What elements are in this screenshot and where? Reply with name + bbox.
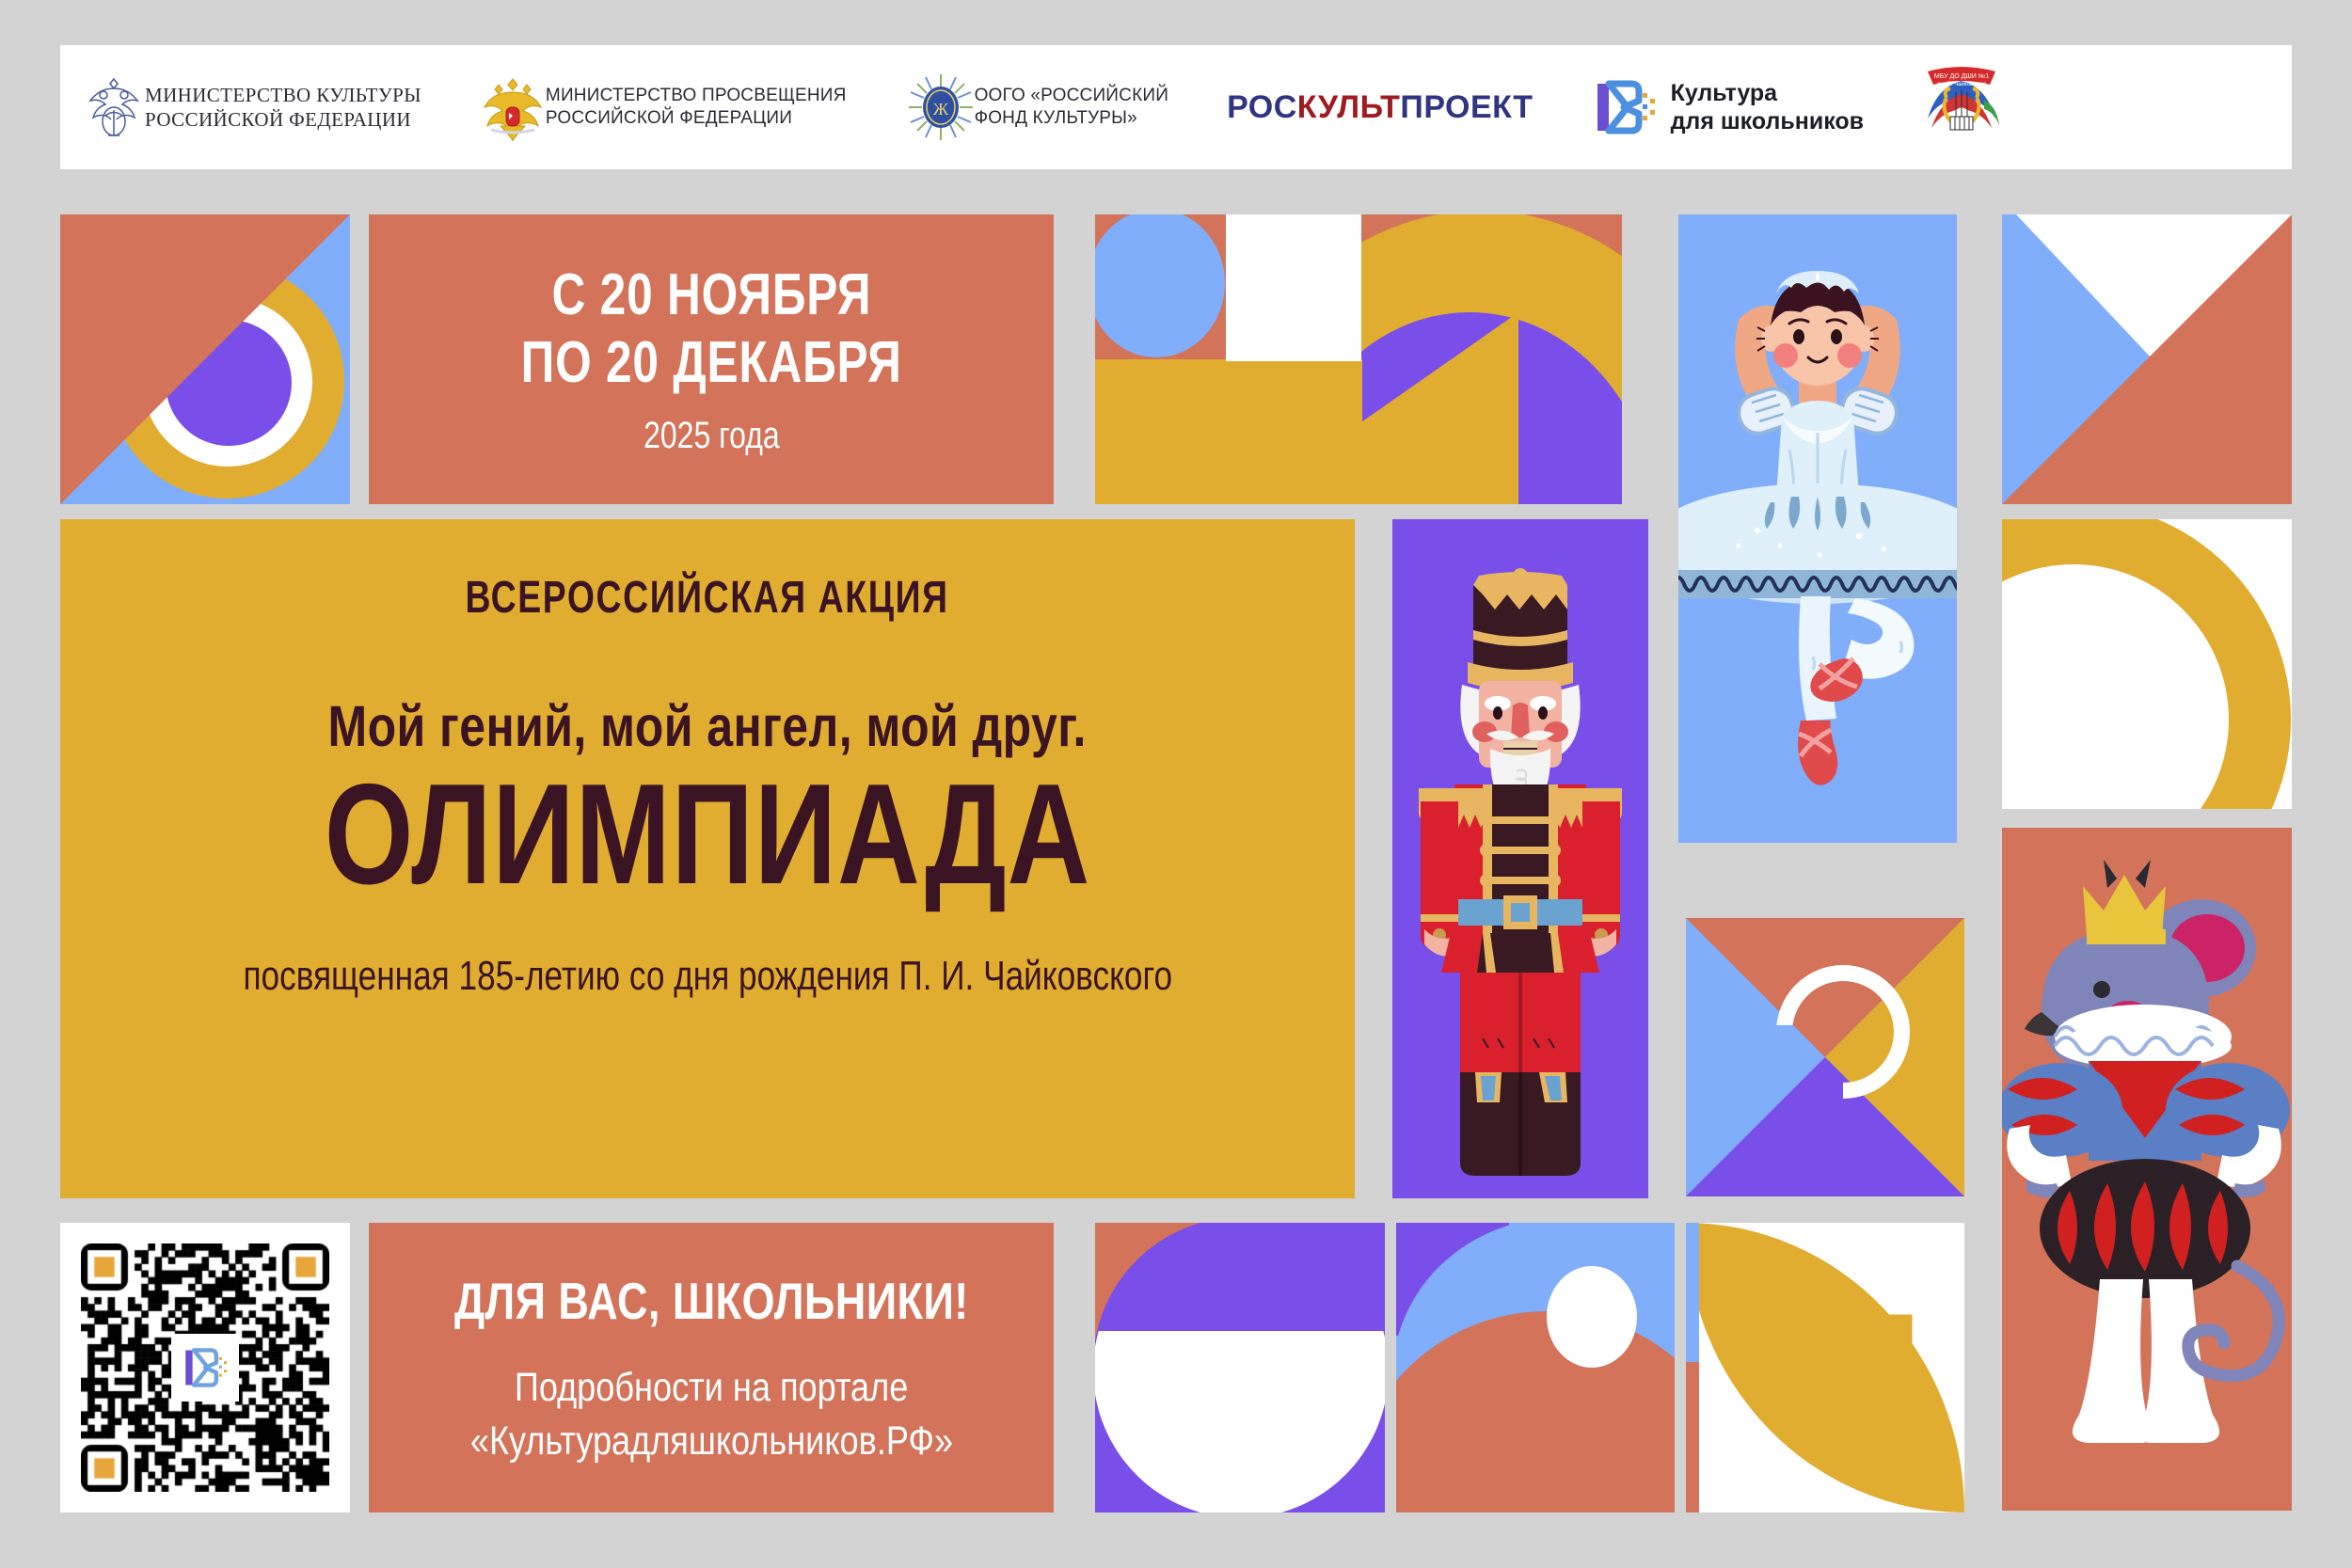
date-text-group: С 20 НОЯБРЯ ПО 20 ДЕКАБРЯ 2025 года bbox=[369, 214, 1054, 504]
decor-white-circle bbox=[1547, 1266, 1637, 1368]
dedication-text: посвященная 185-летию со дня рождения П.… bbox=[243, 953, 1172, 1000]
double-headed-eagle-lyre-emblem-icon bbox=[83, 72, 145, 142]
decor-blue-circle bbox=[1095, 214, 1225, 357]
kds-bracket-logo-icon bbox=[1590, 78, 1671, 136]
svg-text:Ж: Ж bbox=[932, 100, 948, 119]
svg-text:им. П. Чайковского: им. П. Чайковского bbox=[1937, 81, 1987, 87]
svg-text:МБУ ДО ДШИ №1: МБУ ДО ДШИ №1 bbox=[1934, 73, 1989, 80]
cta-tile: ДЛЯ ВАС, ШКОЛЬНИКИ! Подробности на порта… bbox=[369, 1223, 1054, 1513]
mouse-king-illustration bbox=[2002, 828, 2292, 1511]
decor-white-halfcircle bbox=[1095, 1331, 1385, 1513]
logo-minkult-text: МИНИСТЕРСТВО КУЛЬТУРЫ РОССИЙСКОЙ ФЕДЕРАЦ… bbox=[145, 83, 421, 133]
qr-tile[interactable] bbox=[60, 1223, 350, 1513]
ballerina-illustration bbox=[1678, 214, 1957, 843]
decor-tile-geo2 bbox=[1095, 1223, 1385, 1513]
decor-tile-geo1 bbox=[1095, 214, 1622, 504]
logo-kultura-dlya-shkolnikov: Культура для школьников bbox=[1590, 45, 1865, 169]
qr-code[interactable] bbox=[81, 1243, 329, 1492]
logo-dshi-tchaikovsky: МБУ ДО ДШИ №1 им. П. Чайковского bbox=[1918, 45, 2005, 169]
roskultproekt-wordmark: РОСКУЛЬТПРОЕКТ bbox=[1227, 89, 1534, 126]
decor-gold-leaf bbox=[1686, 1223, 1964, 1513]
logo-rfk: Ж ООГО «РОССИЙСКИЙ ФОНД КУЛЬТУРЫ» bbox=[907, 45, 1169, 169]
date-line-2: ПО 20 ДЕКАБРЯ bbox=[520, 329, 901, 396]
ballerina-tile bbox=[1678, 214, 1957, 843]
poster-root: МИНИСТЕРСТВО КУЛЬТУРЫ РОССИЙСКОЙ ФЕДЕРАЦ… bbox=[0, 0, 2352, 1568]
cta-text-group: ДЛЯ ВАС, ШКОЛЬНИКИ! Подробности на порта… bbox=[369, 1223, 1054, 1513]
cta-portal-link[interactable]: «Культурадляшкольников.РФ» bbox=[469, 1418, 952, 1465]
double-headed-eagle-emblem-icon bbox=[480, 73, 546, 141]
star-medallion-emblem-icon: Ж bbox=[907, 72, 975, 142]
decor-blue-strip bbox=[1686, 1223, 1699, 1362]
lyre-piano-ribbon-emblem-icon: МБУ ДО ДШИ №1 им. П. Чайковского bbox=[1918, 62, 2005, 152]
logo-minkult: МИНИСТЕРСТВО КУЛЬТУРЫ РОССИЙСКОЙ ФЕДЕРАЦ… bbox=[83, 45, 421, 169]
main-text-group: ВСЕРОССИЙСКАЯ АКЦИЯ Мой гений, мой ангел… bbox=[60, 519, 1355, 1198]
decor-gold-block bbox=[1095, 359, 1362, 504]
cta-line-1: Подробности на портале bbox=[515, 1365, 908, 1411]
page-title: ОЛИМПИАДА bbox=[325, 763, 1090, 906]
main-title-tile: ВСЕРОССИЙСКАЯ АКЦИЯ Мой гений, мой ангел… bbox=[60, 519, 1355, 1198]
date-year: 2025 года bbox=[644, 415, 780, 457]
logo-minprosvet: МИНИСТЕРСТВО ПРОСВЕЩЕНИЯ РОССИЙСКОЙ ФЕДЕ… bbox=[480, 45, 847, 169]
decor-tile-geo3 bbox=[1396, 1223, 1675, 1513]
decor-white-square bbox=[1226, 214, 1361, 361]
decor-white-ring bbox=[1776, 965, 1910, 1099]
kicker-text: ВСЕРОССИЙСКАЯ АКЦИЯ bbox=[466, 572, 949, 624]
decor-tile-quad bbox=[1686, 918, 1964, 1196]
mouse-king-tile bbox=[2002, 828, 2292, 1511]
decor-tile-topright bbox=[2002, 214, 2292, 504]
date-tile: С 20 НОЯБРЯ ПО 20 ДЕКАБРЯ 2025 года bbox=[369, 214, 1054, 504]
subtitle-text: Мой гений, мой ангел, мой друг. bbox=[328, 693, 1087, 759]
nutcracker-tile bbox=[1392, 519, 1648, 1198]
decor-tile-topleft bbox=[60, 214, 350, 504]
logo-roskultproekt: РОСКУЛЬТПРОЕКТ bbox=[1227, 45, 1534, 169]
decor-triangle bbox=[60, 214, 350, 504]
decor-tile-leaf bbox=[1686, 1223, 1964, 1513]
cta-heading: ДЛЯ ВАС, ШКОЛЬНИКИ! bbox=[454, 1271, 969, 1331]
logo-rfk-text: ООГО «РОССИЙСКИЙ ФОНД КУЛЬТУРЫ» bbox=[975, 85, 1169, 130]
decor-orange-strip bbox=[1686, 1362, 1699, 1513]
logo-minprosvet-text: МИНИСТЕРСТВО ПРОСВЕЩЕНИЯ РОССИЙСКОЙ ФЕДЕ… bbox=[546, 85, 847, 130]
qr-center-logo bbox=[171, 1334, 239, 1402]
date-line-1: С 20 НОЯБРЯ bbox=[551, 261, 871, 328]
logo-kds-text: Культура для школьников bbox=[1671, 79, 1865, 136]
decor-gold-ring bbox=[2002, 519, 2291, 809]
nutcracker-soldier-illustration bbox=[1392, 519, 1648, 1198]
decor-tile-goldring bbox=[2002, 519, 2292, 809]
logo-bar: МИНИСТЕРСТВО КУЛЬТУРЫ РОССИЙСКОЙ ФЕДЕРАЦ… bbox=[60, 45, 2292, 169]
